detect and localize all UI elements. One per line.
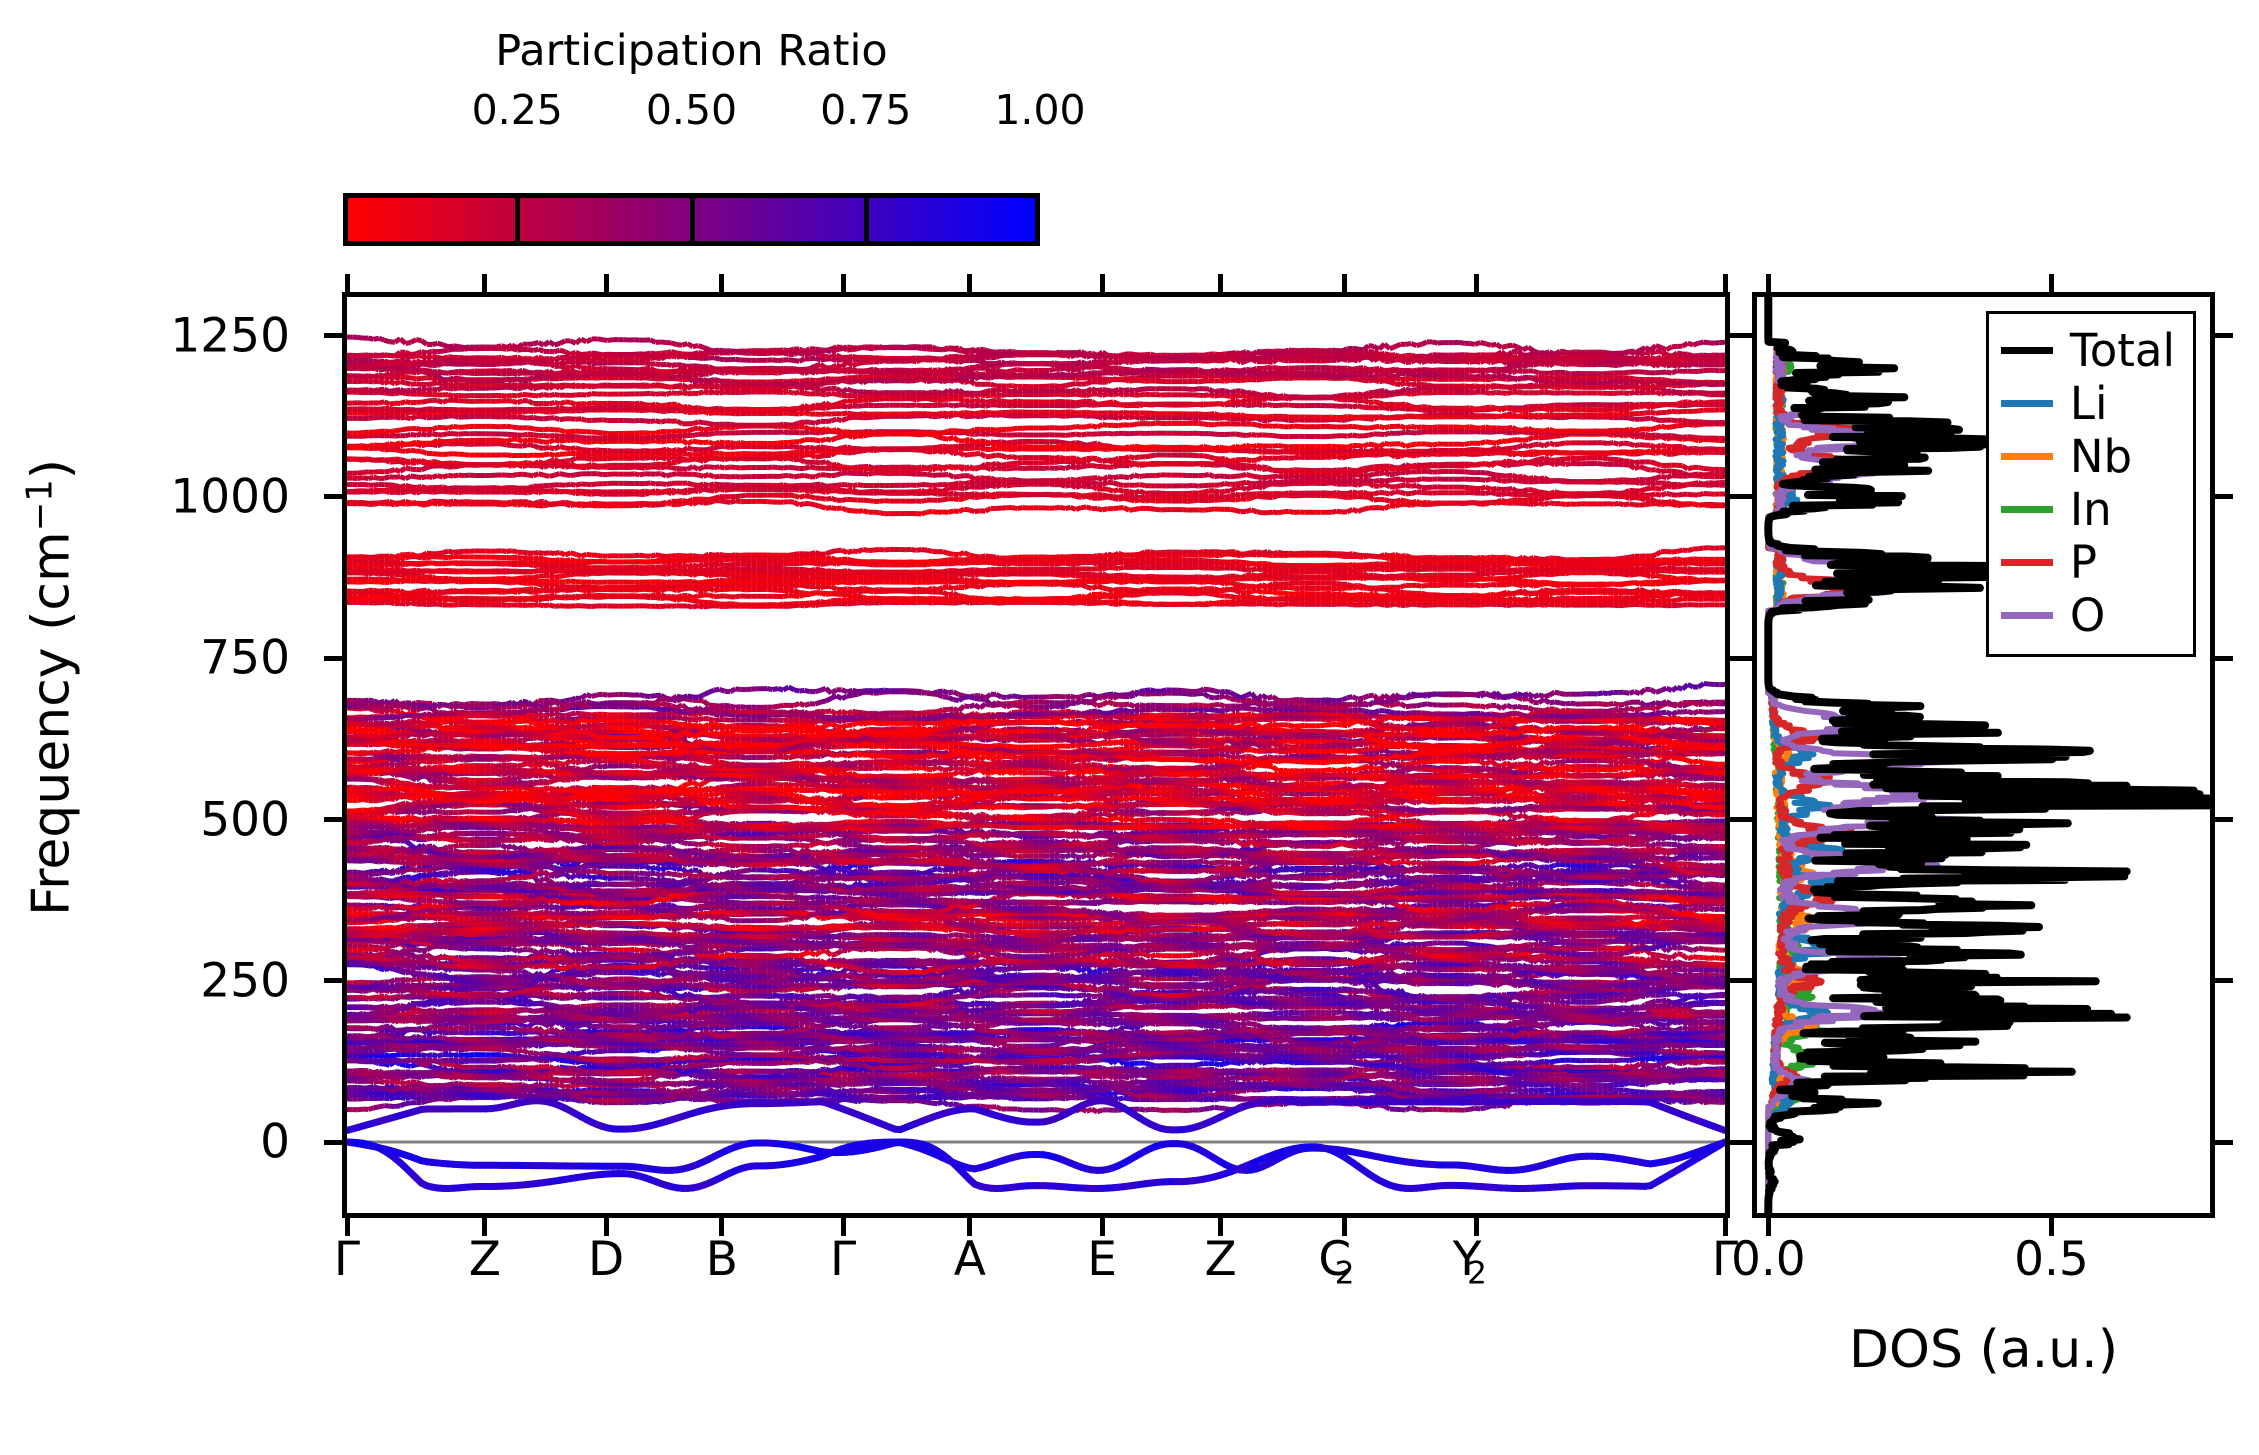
band-x-tick-label: Y2 bbox=[1467, 1232, 1487, 1292]
band-y-tick-label: 500 bbox=[0, 792, 290, 847]
band-x-tick-label-text: C bbox=[1318, 1232, 1351, 1287]
colorbar-tick-label: 1.00 bbox=[994, 86, 1085, 134]
legend-label: Li bbox=[2070, 381, 2108, 426]
band-y-tick bbox=[324, 656, 342, 661]
band-x-tick-label-text: E bbox=[1087, 1232, 1117, 1287]
band-y-tick bbox=[324, 494, 342, 499]
legend-item-total[interactable]: Total bbox=[2001, 324, 2175, 377]
legend-label: Total bbox=[2070, 328, 2175, 373]
legend-item-nb[interactable]: Nb bbox=[2001, 430, 2175, 483]
colorbar-tick-label: 0.25 bbox=[472, 86, 563, 134]
band-x-tick bbox=[482, 274, 487, 292]
legend-label: In bbox=[2070, 487, 2112, 532]
band-y-tick bbox=[324, 1140, 342, 1145]
legend-label: O bbox=[2070, 593, 2105, 638]
phonon-figure: Participation Ratio 0.250.500.751.00 Fre… bbox=[0, 0, 2259, 1455]
dos-y-tick bbox=[1734, 656, 1752, 661]
dos-y-tick-right bbox=[2215, 978, 2233, 983]
colorbar-tick-labels: 0.250.500.751.00 bbox=[343, 86, 1040, 132]
band-x-tick-label-text: Y bbox=[1453, 1232, 1482, 1287]
legend-item-in[interactable]: In bbox=[2001, 483, 2175, 536]
dos-y-tick-right bbox=[2215, 333, 2233, 338]
dos-y-tick bbox=[1734, 978, 1752, 983]
band-x-tick bbox=[604, 274, 609, 292]
legend-item-o[interactable]: O bbox=[2001, 589, 2175, 642]
band-y-tick-right bbox=[1730, 1140, 1748, 1145]
dos-x-tick bbox=[1766, 274, 1771, 292]
colorbar-tick-mark bbox=[864, 198, 869, 241]
band-x-tick-label-text: Γ bbox=[830, 1232, 856, 1287]
band-x-tick bbox=[1474, 274, 1479, 292]
dos-y-tick-right bbox=[2215, 1140, 2233, 1145]
band-y-tick bbox=[324, 333, 342, 338]
dos-y-tick-right bbox=[2215, 817, 2233, 822]
colorbar-tick-mark bbox=[690, 198, 695, 241]
dos-x-tick-label: 0.0 bbox=[1731, 1232, 1806, 1287]
colorbar-tick-label: 0.75 bbox=[820, 86, 911, 134]
band-y-tick-right bbox=[1730, 333, 1748, 338]
legend-swatch-icon bbox=[2001, 400, 2053, 407]
band-x-tick bbox=[1100, 274, 1105, 292]
band-y-tick-right bbox=[1730, 817, 1748, 822]
band-structure-plot[interactable] bbox=[342, 292, 1730, 1218]
dos-y-tick bbox=[1734, 1140, 1752, 1145]
band-y-tick-right bbox=[1730, 494, 1748, 499]
dos-y-tick bbox=[1734, 333, 1752, 338]
dos-y-tick-right bbox=[2215, 656, 2233, 661]
band-x-tick bbox=[719, 274, 724, 292]
colorbar-title: Participation Ratio bbox=[343, 30, 1040, 73]
band-x-tick bbox=[1342, 274, 1347, 292]
dos-plot[interactable]: TotalLiNbInPO bbox=[1752, 292, 2215, 1218]
dos-x-axis-label: DOS (a.u.) bbox=[1752, 1324, 2215, 1376]
band-y-tick-right bbox=[1730, 978, 1748, 983]
band-x-tick-labels: ΓZDBΓAEZC2Y2Γ bbox=[342, 1232, 1730, 1302]
band-x-tick-label-text: B bbox=[706, 1232, 738, 1287]
band-structure-curves bbox=[347, 297, 1725, 1213]
band-x-tick bbox=[1723, 274, 1728, 292]
band-y-tick bbox=[324, 817, 342, 822]
band-x-tick-label-text: D bbox=[588, 1232, 624, 1287]
legend-swatch-icon bbox=[2001, 347, 2053, 354]
legend-label: Nb bbox=[2070, 434, 2132, 479]
band-y-tick bbox=[324, 978, 342, 983]
legend-swatch-icon bbox=[2001, 506, 2053, 513]
legend-item-li[interactable]: Li bbox=[2001, 377, 2175, 430]
legend-label: P bbox=[2070, 540, 2097, 585]
band-x-tick-label-text: Z bbox=[1205, 1232, 1237, 1287]
band-x-tick bbox=[841, 274, 846, 292]
legend-swatch-icon bbox=[2001, 612, 2053, 619]
legend-swatch-icon bbox=[2001, 453, 2053, 460]
band-x-tick bbox=[345, 274, 350, 292]
colorbar-tick-mark bbox=[515, 198, 520, 241]
dos-y-tick bbox=[1734, 494, 1752, 499]
band-y-tick-label: 250 bbox=[0, 953, 290, 1008]
colorbar-tick-label: 0.50 bbox=[646, 86, 737, 134]
band-y-tick-label: 0 bbox=[0, 1115, 290, 1170]
band-x-tick-label-text: A bbox=[954, 1232, 986, 1287]
band-x-tick bbox=[1218, 274, 1223, 292]
legend-item-p[interactable]: P bbox=[2001, 536, 2175, 589]
band-x-tick-label-text: Z bbox=[469, 1232, 501, 1287]
band-y-tick-right bbox=[1730, 656, 1748, 661]
legend-swatch-icon bbox=[2001, 559, 2053, 566]
band-y-tick-label: 1000 bbox=[0, 469, 290, 524]
dos-x-tick bbox=[2049, 274, 2054, 292]
band-y-tick-label: 1250 bbox=[0, 308, 290, 363]
band-x-tick-label-text: Γ bbox=[334, 1232, 360, 1287]
band-y-tick-labels: 125010007505002500 bbox=[0, 292, 320, 1218]
dos-x-tick-label: 0.5 bbox=[2014, 1232, 2089, 1287]
dos-legend: TotalLiNbInPO bbox=[1986, 311, 2196, 657]
dos-y-tick-right bbox=[2215, 494, 2233, 499]
band-x-tick-label: C2 bbox=[1335, 1232, 1355, 1292]
dos-x-tick-labels: 0.00.5 bbox=[1752, 1232, 2215, 1302]
band-x-tick bbox=[967, 274, 972, 292]
band-y-tick-label: 750 bbox=[0, 631, 290, 686]
dos-y-tick bbox=[1734, 817, 1752, 822]
colorbar bbox=[343, 193, 1040, 246]
